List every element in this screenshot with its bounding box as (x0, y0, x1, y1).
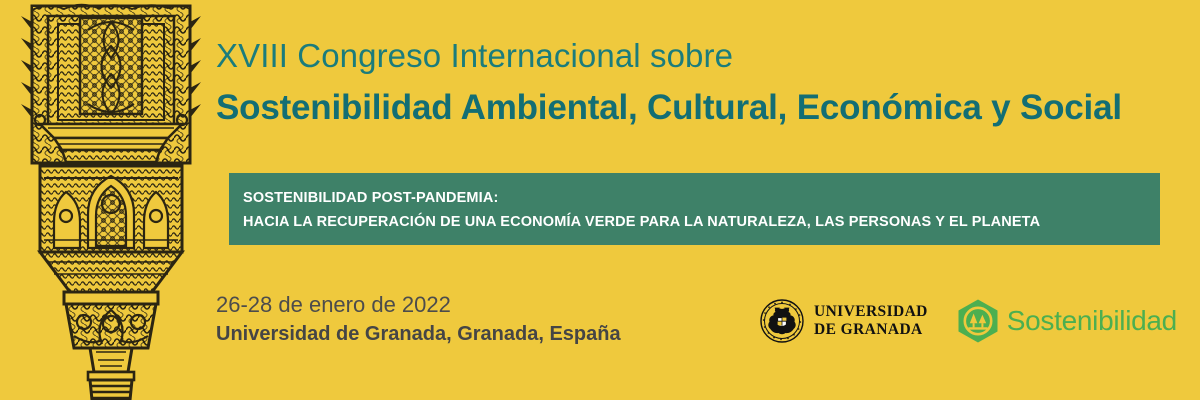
subtitle-line-2: HACIA LA RECUPERACIÓN DE UNA ECONOMÍA VE… (243, 210, 1160, 234)
congress-title-line-2: Sostenibilidad Ambiental, Cultural, Econ… (216, 83, 1176, 133)
event-venue: Universidad de Granada, Granada, España (216, 320, 621, 348)
column-neck (40, 252, 182, 304)
subtitle-banner: SOSTENIBILIDAD POST-PANDEMIA: HACIA LA R… (229, 173, 1160, 245)
column-shaft (88, 348, 134, 400)
capital-upper-block (21, 5, 201, 163)
congress-title-line-1: XVIII Congreso Internacional sobre (216, 34, 1176, 78)
logo-row: UNIVERSIDAD DE GRANADA (760, 298, 1177, 344)
hexagon-trees-icon (956, 298, 1000, 344)
conference-banner: XVIII Congreso Internacional sobre Soste… (0, 0, 1200, 400)
subtitle-line-1: SOSTENIBILIDAD POST-PANDEMIA: (243, 186, 1160, 210)
sostenibilidad-logo: Sostenibilidad (956, 298, 1177, 344)
ugr-wordmark: UNIVERSIDAD DE GRANADA (814, 303, 928, 339)
sostenibilidad-wordmark: Sostenibilidad (1007, 305, 1177, 337)
ugr-crest-icon (760, 299, 804, 343)
column-collar (66, 304, 156, 348)
universidad-de-granada-logo: UNIVERSIDAD DE GRANADA (760, 299, 928, 343)
ugr-wordmark-line-2: DE GRANADA (814, 321, 928, 339)
capital-arch-band (40, 166, 182, 252)
ugr-wordmark-line-1: UNIVERSIDAD (814, 303, 928, 321)
event-date: 26-28 de enero de 2022 (216, 290, 621, 320)
alhambra-column-capital-engraving (18, 0, 204, 400)
title-block: XVIII Congreso Internacional sobre Soste… (216, 34, 1176, 133)
event-info: 26-28 de enero de 2022 Universidad de Gr… (216, 290, 621, 348)
